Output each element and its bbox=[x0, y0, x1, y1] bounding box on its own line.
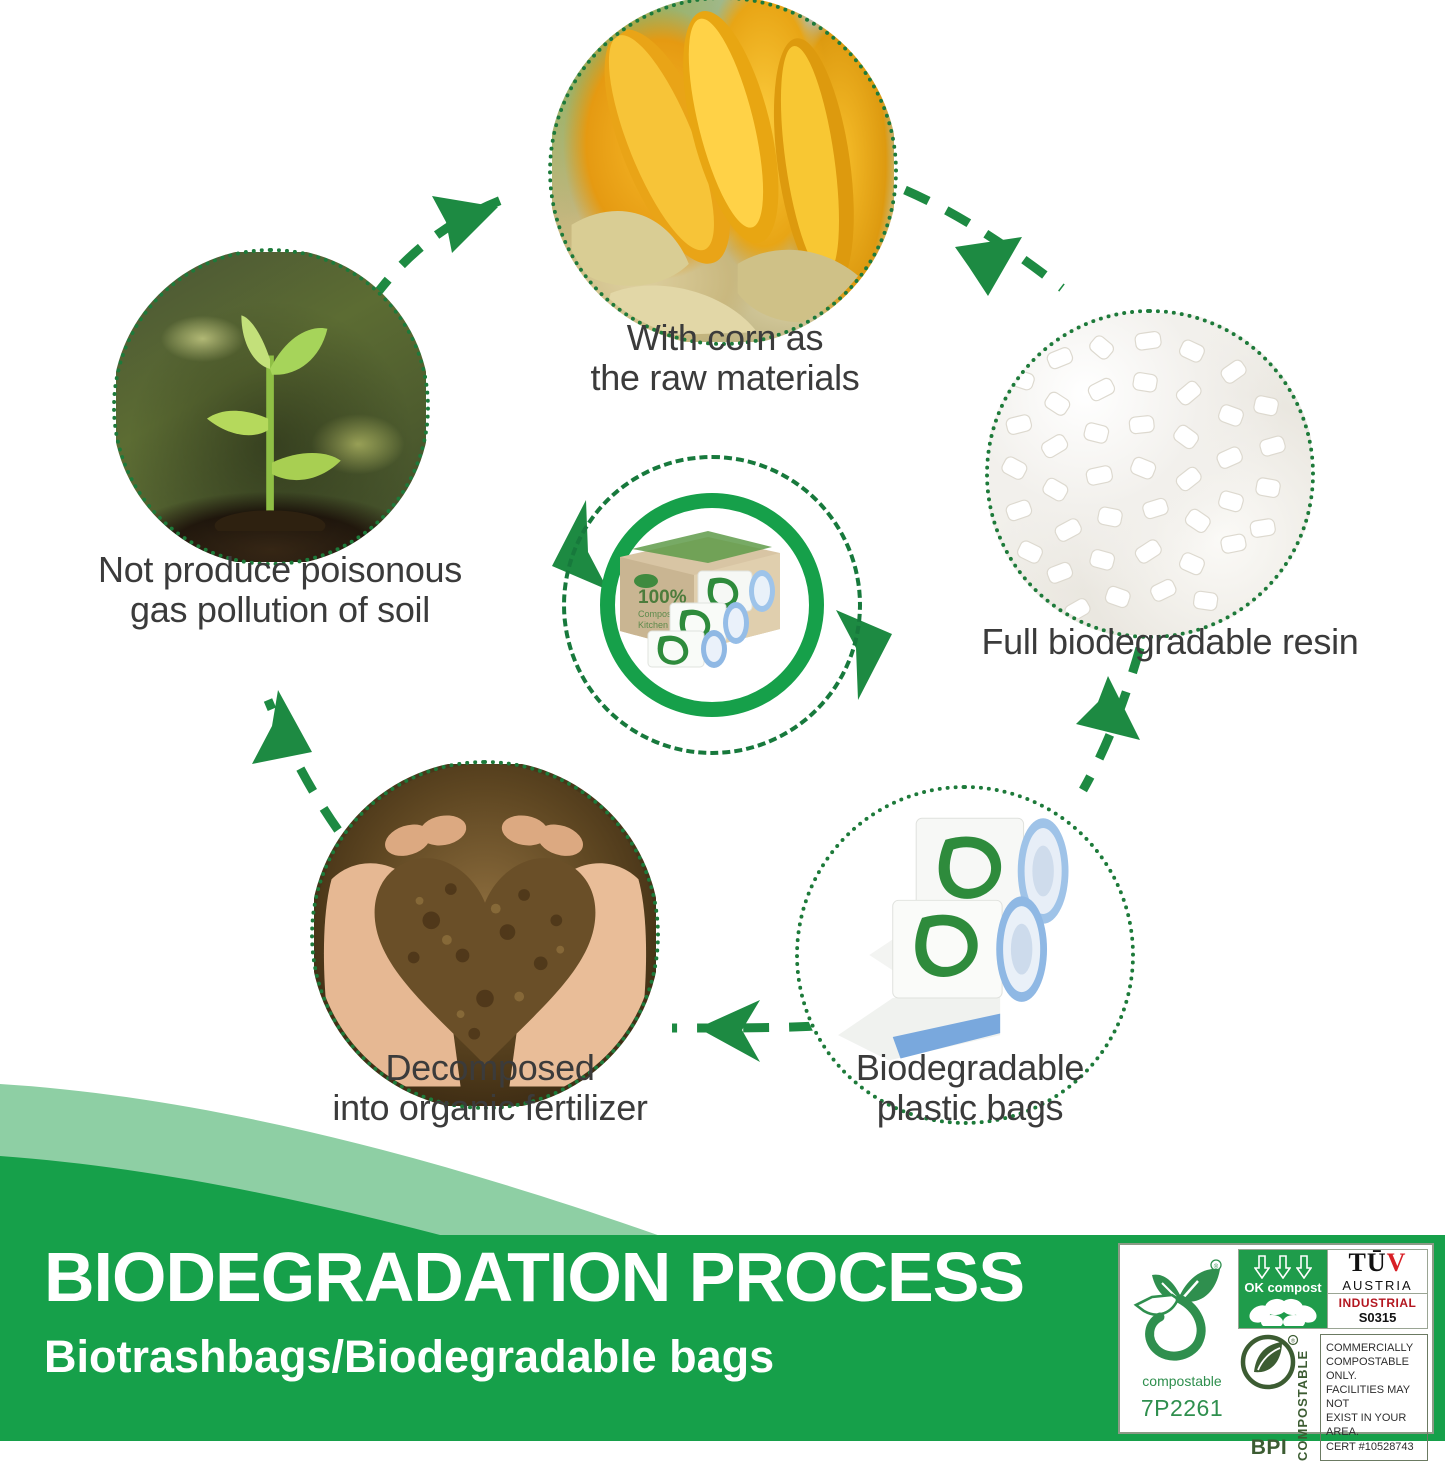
seedling-code: 7P2261 bbox=[1130, 1395, 1234, 1422]
leaf-mid-left bbox=[207, 410, 268, 434]
bpi-line-1: COMMERCIALLY bbox=[1326, 1341, 1422, 1355]
seedling-certification: ® compostable 7P2261 bbox=[1120, 1245, 1238, 1432]
corn-photo bbox=[548, 0, 898, 346]
step-compost: Decomposed into organic fertilizer bbox=[0, 0, 350, 350]
resin-pellet-grains bbox=[989, 313, 1311, 635]
ok-compost-label: OK compost bbox=[1244, 1280, 1321, 1295]
down-arrow-icon bbox=[1296, 1255, 1312, 1279]
down-arrow-icons bbox=[1254, 1255, 1312, 1279]
tuv-code: S0315 bbox=[1328, 1310, 1427, 1325]
bpi-wordmark: BPI bbox=[1238, 1436, 1300, 1460]
bpi-registered-mark: ® bbox=[1291, 1338, 1295, 1345]
bpi-line-4: EXIST IN YOUR AREA. bbox=[1326, 1411, 1422, 1439]
bpi-line-3: FACILITIES MAY NOT bbox=[1326, 1383, 1422, 1411]
bpi-badge: ® BPI COMPOSTABLE COMMERCIALLY COMPOSTAB… bbox=[1238, 1334, 1428, 1461]
bpi-line-5: CERT #10528743 bbox=[1326, 1440, 1422, 1454]
center-product-node: 100% Compostable Kitchen bbox=[562, 455, 862, 755]
banner-text-block: BIODEGRADATION PROCESS Biotrashbags/Biod… bbox=[44, 1242, 1104, 1379]
seedling-registered-mark: ® bbox=[1214, 1264, 1219, 1271]
ok-compost-tuv-badge: OK compost TŪV bbox=[1238, 1249, 1428, 1329]
resin-caption: Full biodegradable resin bbox=[900, 622, 1440, 662]
banner-title: BIODEGRADATION PROCESS bbox=[44, 1242, 1104, 1312]
flower-icon bbox=[1248, 1298, 1318, 1326]
bpi-leaf-icon: ® bbox=[1238, 1334, 1300, 1392]
seedling-compostable-label: compostable bbox=[1130, 1373, 1234, 1389]
leaf-mid-right bbox=[272, 453, 341, 480]
tuv-t: T bbox=[1349, 1248, 1367, 1277]
down-arrow-icon bbox=[1254, 1255, 1270, 1279]
infographic-canvas: .dl { stroke:#1d8a42; stroke-width:9; fi… bbox=[0, 0, 1445, 1441]
tuv-wordmark: TŪV bbox=[1349, 1250, 1407, 1276]
arrow-head-corn-to-resin bbox=[955, 237, 1022, 296]
tuv-u: Ū bbox=[1367, 1248, 1387, 1277]
product-box-and-rolls: 100% Compostable Kitchen bbox=[612, 519, 812, 679]
box-line3-label: Kitchen bbox=[638, 620, 668, 630]
bags-caption: Biodegradable plastic bags bbox=[790, 1048, 1150, 1129]
soil-mound bbox=[215, 510, 326, 531]
resin-pellets-photo bbox=[985, 309, 1315, 639]
arrow-head-resin-to-bags bbox=[1076, 676, 1140, 740]
corn-caption: With corn as the raw materials bbox=[505, 318, 945, 399]
seedling-logo-icon: ® bbox=[1128, 1253, 1228, 1363]
sprout-caption: Not produce poisonous gas pollution of s… bbox=[10, 550, 550, 631]
banner-subtitle: Biotrashbags/Biodegradable bags bbox=[44, 1334, 1104, 1379]
bpi-compostable-vertical-label: COMPOSTABLE bbox=[1295, 1349, 1310, 1460]
certification-block: ® compostable 7P2261 bbox=[1118, 1243, 1434, 1434]
compost-caption: Decomposed into organic fertilizer bbox=[260, 1048, 720, 1129]
tuv-austria-label: AUSTRIA bbox=[1342, 1278, 1412, 1293]
bpi-disclaimer: COMMERCIALLY COMPOSTABLE ONLY. FACILITIE… bbox=[1320, 1334, 1428, 1461]
ok-compost-panel: OK compost bbox=[1239, 1250, 1327, 1328]
arrow-head-compost-to-sprout bbox=[252, 690, 312, 764]
bpi-line-2: COMPOSTABLE ONLY. bbox=[1326, 1355, 1422, 1383]
down-arrow-icon bbox=[1275, 1255, 1291, 1279]
bag-roll-front bbox=[838, 896, 1047, 1060]
tuv-industrial-label: INDUSTRIAL bbox=[1328, 1296, 1427, 1310]
tuv-v: V bbox=[1387, 1248, 1407, 1277]
